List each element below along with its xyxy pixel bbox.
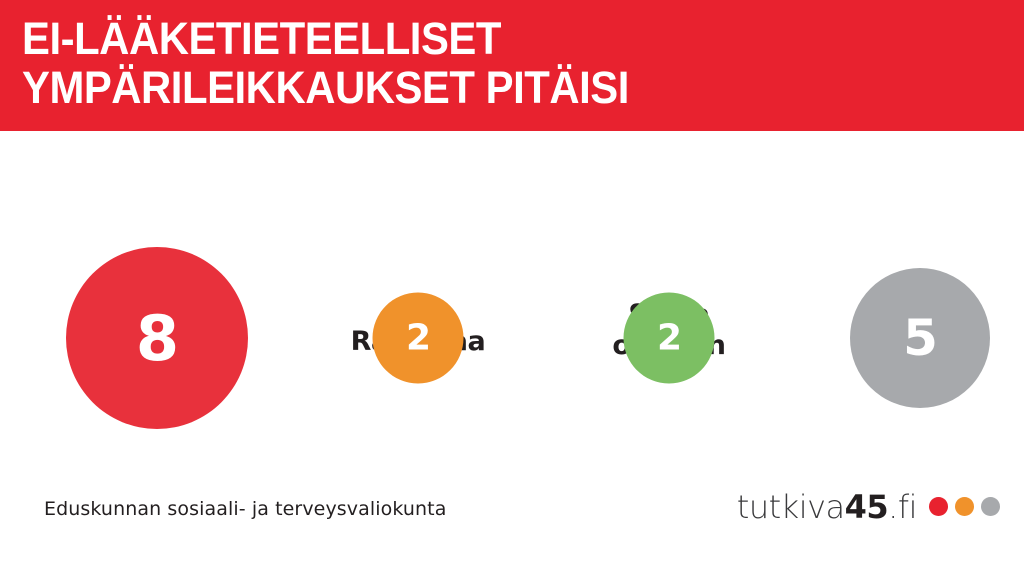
footer: Eduskunnan sosiaali- ja terveysvaliokunt… [0, 461, 1024, 576]
bubble-chart: Kieltää 8 Rajoittaa 2 Sallia osittain 2 [0, 131, 1024, 461]
bubble-wrap-rajoittaa: 2 [292, 243, 544, 433]
bubble-eos: 5 [850, 268, 990, 408]
logo-dots [929, 497, 1000, 516]
tutkiva45-logo[interactable]: tutkiva 45 .fi [737, 488, 1000, 526]
bubble-value-sallia-osittain: 2 [657, 318, 681, 359]
bubble-group-eos: EOS 5 [794, 131, 1024, 461]
logo-dot-grey-icon [981, 497, 1000, 516]
logo-wordmark: tutkiva 45 .fi [737, 488, 917, 526]
bubble-group-kieltaa: Kieltää 8 [22, 131, 292, 461]
bubble-group-rajoittaa: Rajoittaa 2 [292, 131, 544, 461]
logo-text-45: 45 [845, 488, 889, 526]
logo-dot-red-icon [929, 497, 948, 516]
bubble-wrap-sallia-osittain: 2 [544, 243, 794, 433]
page-title: EI-LÄÄKETIETEELLISET YMPÄRILEIKKAUKSET P… [22, 14, 915, 112]
header-band: EI-LÄÄKETIETEELLISET YMPÄRILEIKKAUKSET P… [0, 0, 1024, 131]
bubble-group-sallia-osittain: Sallia osittain 2 [544, 131, 794, 461]
bubble-rajoittaa: 2 [373, 293, 464, 384]
bubble-value-kieltaa: 8 [136, 302, 178, 375]
infographic-poster: EI-LÄÄKETIETEELLISET YMPÄRILEIKKAUKSET P… [0, 0, 1024, 576]
logo-text-fi: .fi [888, 488, 917, 526]
source-note: Eduskunnan sosiaali- ja terveysvaliokunt… [44, 498, 446, 520]
logo-dot-orange-icon [955, 497, 974, 516]
bubble-kieltaa: 8 [66, 247, 248, 429]
bubble-value-eos: 5 [903, 309, 937, 367]
logo-text-tutkiva: tutkiva [737, 488, 845, 526]
bubble-sallia-osittain: 2 [624, 293, 715, 384]
bubble-wrap-eos: 5 [794, 243, 1024, 433]
bubble-wrap-kieltaa: 8 [22, 243, 292, 433]
bubble-value-rajoittaa: 2 [406, 318, 430, 359]
